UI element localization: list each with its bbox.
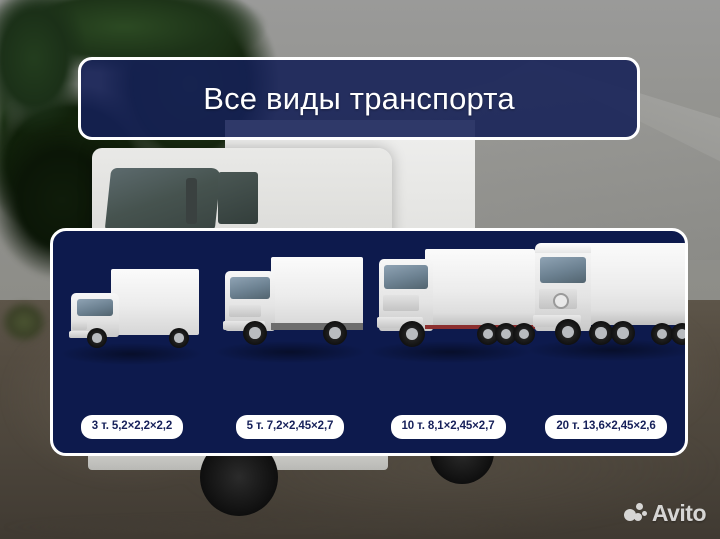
roof-deflector — [535, 243, 591, 253]
windshield — [77, 299, 113, 316]
vehicle-shadow — [215, 341, 365, 363]
drive-wheel — [589, 321, 613, 345]
capacity-badge-20t: 20 т. 13,6×2,45×2,6 — [545, 415, 666, 440]
background-truck-windshield — [105, 168, 222, 230]
windshield — [384, 265, 428, 289]
front-wheel — [87, 328, 107, 348]
windshield — [230, 277, 270, 299]
badge-slot: 20 т. 13,6×2,45×2,6 — [527, 415, 685, 440]
windshield — [540, 257, 586, 283]
front-wheel — [243, 321, 267, 345]
badge-slot: 3 т. 5,2×2,2×2,2 — [53, 415, 211, 440]
front-wheel — [399, 321, 425, 347]
capacity-badge-5t: 5 т. 7,2×2,45×2,7 — [236, 415, 345, 440]
background-truck-mirror — [186, 178, 197, 224]
rear-wheel — [323, 321, 347, 345]
page-title: Все виды транспорта — [203, 81, 515, 117]
title-banner: Все виды транспорта — [78, 57, 640, 140]
avito-watermark: Avito — [624, 500, 706, 527]
vehicles-panel: 3 т. 5,2×2,2×2,2 5 т. 7,2×2,45×2,7 10 т.… — [50, 228, 688, 456]
badge-slot: 10 т. 8,1×2,45×2,7 — [369, 415, 527, 440]
capacity-badge-row: 3 т. 5,2×2,2×2,2 5 т. 7,2×2,45×2,7 10 т.… — [53, 415, 685, 440]
chassis-frame — [271, 323, 363, 330]
rear-wheel — [169, 328, 189, 348]
capacity-badge-3t: 3 т. 5,2×2,2×2,2 — [81, 415, 183, 440]
trailer-wheel — [671, 323, 688, 345]
drive-wheel — [611, 321, 635, 345]
trailer-wheel — [651, 323, 673, 345]
badge-slot: 5 т. 7,2×2,45×2,7 — [211, 415, 369, 440]
front-grille — [229, 305, 261, 317]
cargo-box — [271, 257, 363, 329]
mercedes-star-icon — [553, 293, 569, 309]
front-grille — [383, 295, 419, 311]
front-wheel — [555, 319, 581, 345]
front-grille — [72, 321, 87, 330]
avito-brand-label: Avito — [652, 500, 706, 527]
avito-dots-icon — [624, 503, 647, 524]
background-truck-side-window — [218, 172, 258, 224]
capacity-badge-10t: 10 т. 8,1×2,45×2,7 — [391, 415, 506, 440]
promo-image: Все виды транспорта — [0, 0, 720, 539]
cargo-box — [111, 269, 199, 335]
